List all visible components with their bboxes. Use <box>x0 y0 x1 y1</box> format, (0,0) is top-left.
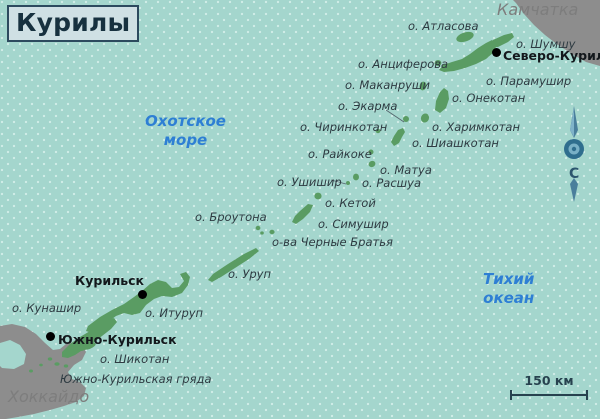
compass-rose: С <box>560 104 588 204</box>
island-ketoy-shape <box>314 193 321 200</box>
island-label-chirinkotan: о. Чиринкотан <box>300 122 387 134</box>
scale-bar: 150 км <box>510 373 588 400</box>
compass-north-needle-highlight <box>570 108 574 137</box>
scale-bar-line <box>510 390 588 400</box>
land-label-hokkaido: Хоккайдо <box>8 389 89 405</box>
map-title-text: Курилы <box>16 8 130 37</box>
island-habomai-3-shape <box>64 364 68 367</box>
compass-rose-icon <box>560 104 588 204</box>
scale-bar-label: 150 км <box>510 373 588 388</box>
island-broutona-small-shape <box>260 231 264 234</box>
sea-label-okhotsk-line1: Охотское <box>145 112 226 131</box>
island-label-urup: о. Уруп <box>228 269 271 281</box>
island-label-shikotan: о. Шикотан <box>100 354 169 366</box>
island-label-antsiferova: о. Анциферова <box>358 59 448 71</box>
map-title: Курилы <box>7 5 139 42</box>
scale-bar-cap-left <box>510 390 512 400</box>
sea-label-pacific-line2: океан <box>483 289 534 308</box>
island-label-yuzhno-kurilskaya-gryada: Южно-Курильская гряда <box>60 374 212 386</box>
island-label-broutona: о. Броутона <box>195 212 267 224</box>
island-shiashkotan-shape <box>391 128 405 146</box>
island-ekarma-shape <box>403 116 409 122</box>
island-label-onekotan: о. Онекотан <box>452 93 525 105</box>
island-label-atlasova: о. Атласова <box>408 21 479 33</box>
sea-label-okhotsk-line2: море <box>145 131 226 150</box>
island-label-ketoy: о. Кетой <box>325 198 376 210</box>
island-rasshua-shape <box>353 174 359 181</box>
island-label-kunashir: о. Кунашир <box>12 303 81 315</box>
island-habomai-5-shape <box>29 370 33 373</box>
island-label-matua: о. Матуа <box>380 165 432 177</box>
island-label-ushishir: о. Ушишир <box>277 177 342 189</box>
island-label-chernye-bratya: о-ва Черные Братья <box>272 237 393 249</box>
city-label-kurilsk: Курильск <box>75 275 144 288</box>
island-label-kharimkotan: о. Харимкотан <box>432 122 520 134</box>
city-dot-kurilsk <box>138 290 147 299</box>
compass-north-label: С <box>569 166 579 182</box>
land-label-kamchatka: Камчатка <box>497 2 578 18</box>
island-label-ekarma: о. Экарма <box>338 101 397 113</box>
island-label-iturup: о. Итуруп <box>145 308 203 320</box>
island-chernye-bratya-shape <box>269 230 274 234</box>
island-label-shiashkotan: о. Шиашкотан <box>412 138 499 150</box>
city-label-severo-kurilsk: Северо-Курильск <box>503 50 600 63</box>
sea-label-okhotsk: Охотское море <box>145 112 226 150</box>
island-label-paramushir: о. Парамушир <box>486 76 571 88</box>
city-dot-yuzhno-kurilsk <box>46 332 55 341</box>
sea-label-pacific: Тихий океан <box>483 270 534 308</box>
scale-bar-rule <box>510 394 588 396</box>
island-label-rasshua: о. Расшуа <box>362 178 421 190</box>
compass-hub-center <box>572 147 576 151</box>
island-broutona-shape <box>256 226 261 230</box>
city-dot-severo-kurilsk <box>492 48 501 57</box>
kuril-islands-landmasses <box>29 30 514 373</box>
island-habomai-4-shape <box>39 364 43 367</box>
sea-label-pacific-line1: Тихий <box>483 270 534 289</box>
scale-bar-cap-right <box>586 390 588 400</box>
island-label-raykoke: о. Райкоке <box>308 149 372 161</box>
island-habomai-1-shape <box>48 357 52 360</box>
city-label-yuzhno-kurilsk: Южно-Курильск <box>58 334 177 347</box>
island-kharimkotan-shape <box>420 112 431 123</box>
island-habomai-2-shape <box>54 362 59 366</box>
island-label-makanrushi: о. Маканруши <box>345 80 430 92</box>
island-simushir-shape <box>292 204 313 224</box>
island-onekotan-shape <box>435 88 449 113</box>
kuril-islands-map: Курилы Охотское море Тихий океан Камчатк… <box>0 0 600 419</box>
island-matua-shape <box>368 160 377 168</box>
island-ushishir-shape <box>346 181 350 185</box>
island-label-simushir: о. Симушир <box>318 219 389 231</box>
